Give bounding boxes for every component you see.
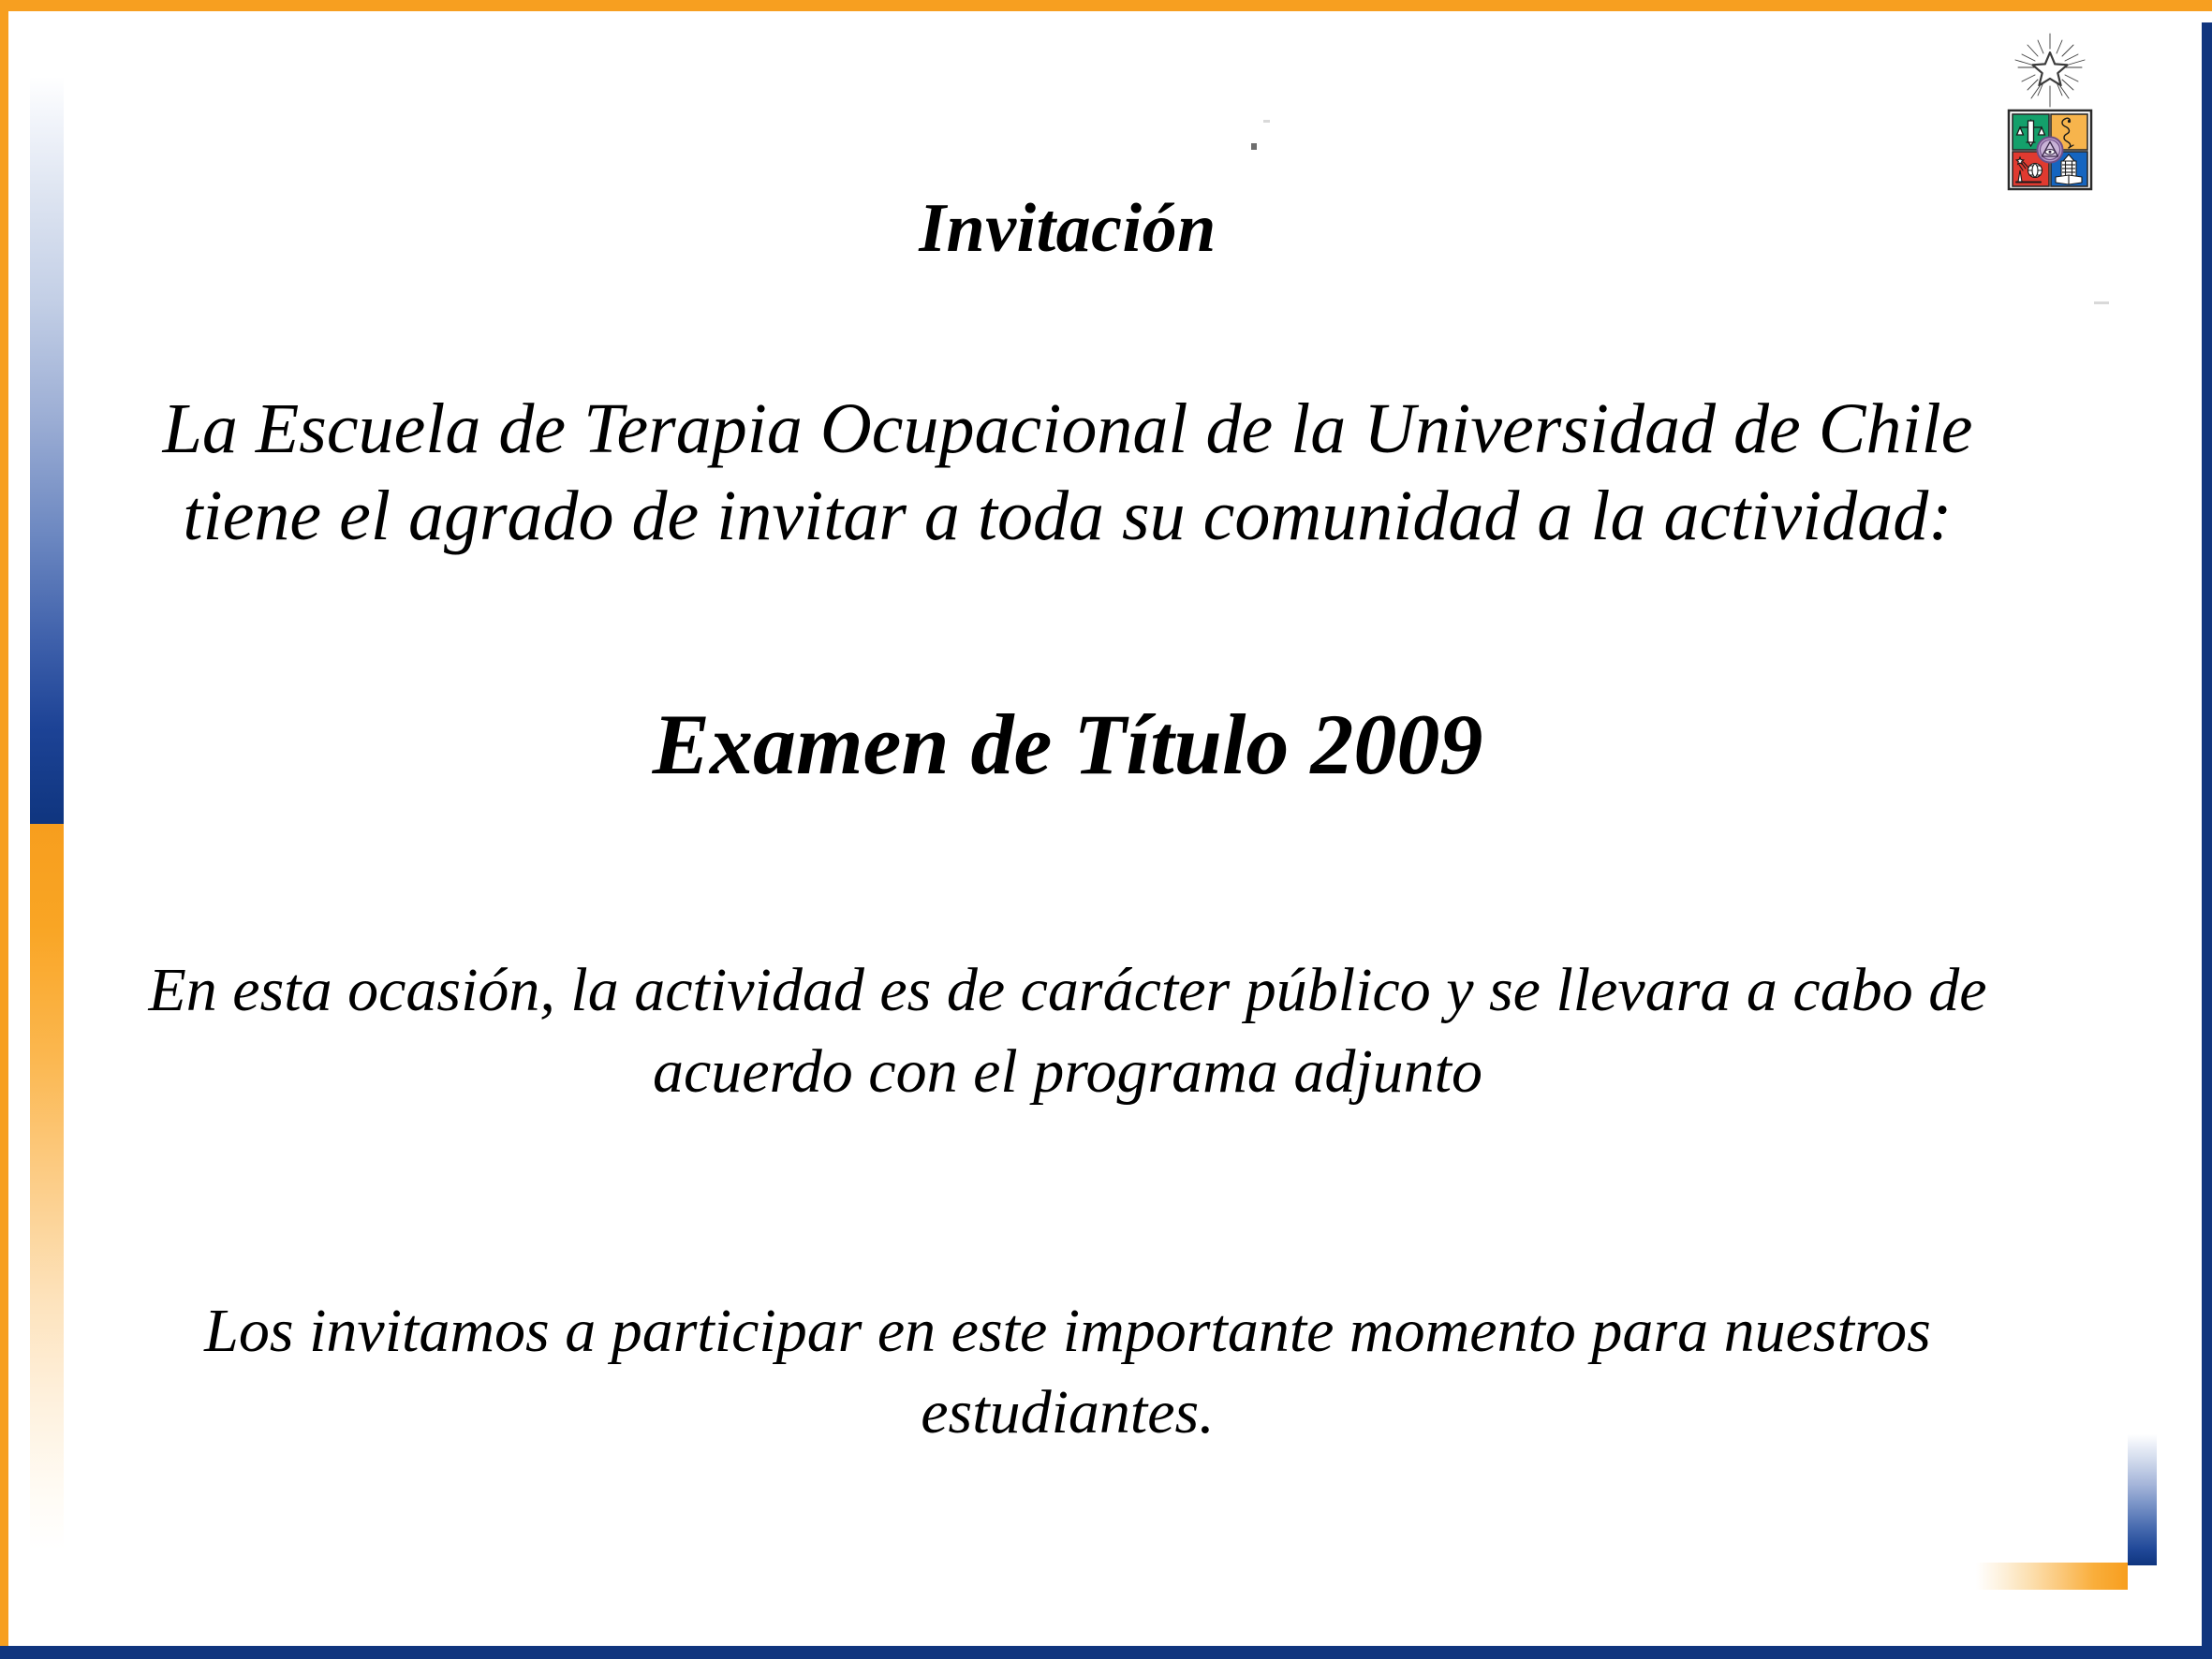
scan-artifact: [1251, 143, 1257, 150]
closing-paragraph: Los invitamos a participar en este impor…: [103, 1290, 2032, 1453]
invitation-slide: Invitación La Escuela de Terapia Ocupaci…: [0, 0, 2212, 1659]
intro-paragraph: La Escuela de Terapia Ocupacional de la …: [103, 386, 2032, 559]
scan-artifact: [2094, 301, 2109, 304]
left-border-orange: [0, 11, 8, 1646]
bottom-right-decorative-bar-blue: [2128, 1434, 2157, 1565]
right-border-blue: [2202, 22, 2212, 1646]
event-heading: Examen de Título 2009: [103, 697, 2032, 792]
detail-paragraph: En esta ocasión, la actividad es de cará…: [103, 949, 2032, 1112]
scan-artifact: [1263, 120, 1270, 123]
slide-content: Invitación La Escuela de Terapia Ocupaci…: [103, 0, 2032, 1659]
left-decorative-bar-blue: [30, 77, 64, 824]
left-decorative-bar-orange: [30, 824, 64, 1549]
page-title: Invitación: [103, 193, 2032, 266]
